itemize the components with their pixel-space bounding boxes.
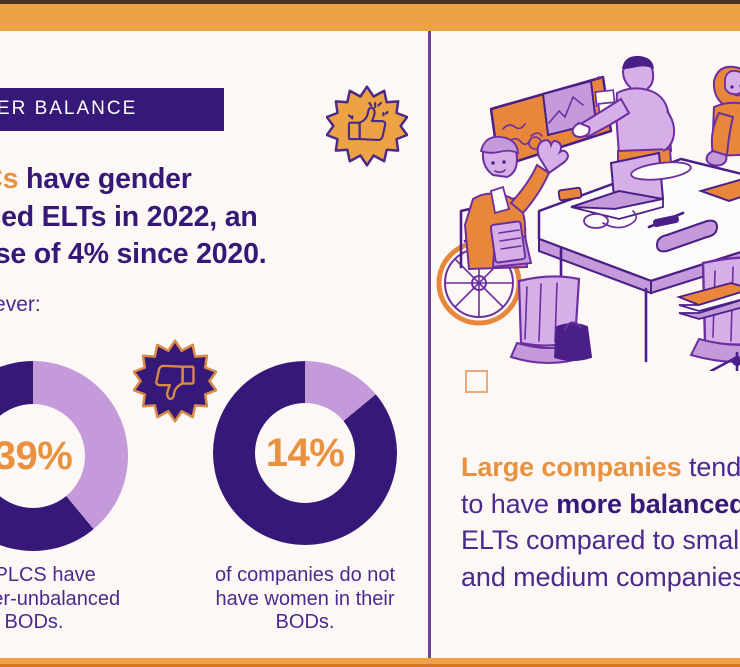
right-text-part1: tend	[689, 452, 740, 482]
however-label: However:	[0, 293, 41, 317]
headline-line2: balanced ELTs in 2022, an	[0, 201, 258, 233]
donut-value-a: 39%	[0, 434, 72, 479]
donut-chart-no-women-bods: 14%	[213, 361, 397, 545]
orange-square-decoration	[465, 370, 488, 393]
left-panel: GENDER BALANCE of PLCs have gender balan…	[0, 31, 428, 658]
right-text-line2-pre: to have	[461, 489, 556, 519]
donut-caption-b-line2: have women in their	[216, 588, 395, 610]
top-orange-bar	[0, 0, 740, 31]
thumbs-down-starburst-icon	[133, 339, 217, 423]
section-badge-label: GENDER BALANCE	[0, 98, 210, 120]
page-headline: of PLCs have gender balanced ELTs in 202…	[0, 161, 432, 274]
donut-ring-b: 14%	[213, 361, 397, 545]
donut-ring-a: 39%	[0, 361, 128, 551]
donut-hole-a: 39%	[0, 404, 85, 508]
right-text-line3: ELTs compared to small	[461, 525, 740, 555]
headline-line3: increase of 4% since 2020.	[0, 238, 266, 270]
person-with-hijab	[707, 67, 740, 166]
donut-caption-a-line1: of PLCS have	[0, 564, 96, 586]
section-badge: GENDER BALANCE	[0, 88, 224, 131]
headline-line1-rest: have gender	[18, 163, 191, 195]
bottom-orange-bar	[0, 658, 740, 667]
donut-chart-plcs-unbalanced: 39%	[0, 361, 128, 551]
donut-value-b: 14%	[266, 431, 345, 476]
right-text-line4: and medium companies.	[461, 562, 740, 592]
donut-caption-a-line3: BODs.	[5, 611, 64, 633]
right-text-line2-bold: more balanced	[556, 489, 740, 519]
donut-caption-b-line1: of companies do not	[215, 564, 395, 586]
laptop	[571, 153, 663, 219]
donut-caption-a: of PLCS have gender-unbalanced BODs.	[0, 564, 164, 635]
donut-caption-b-line3: BODs.	[276, 611, 335, 633]
thumbs-up-starburst-icon	[326, 85, 408, 167]
right-panel-text: Large companies tend to have more balanc…	[461, 449, 740, 596]
office-meeting-illustration: .lp { fill:#d6aee8; } .lp2 { fill:#c49ad…	[431, 31, 740, 371]
donut-caption-b: of companies do not have women in their …	[196, 564, 414, 635]
right-panel: .lp { fill:#d6aee8; } .lp2 { fill:#c49ad…	[431, 31, 740, 658]
infographic-canvas: GENDER BALANCE of PLCs have gender balan…	[0, 0, 740, 667]
donut-caption-a-line2: gender-unbalanced	[0, 588, 120, 610]
bag	[555, 322, 591, 360]
donut-hole-b: 14%	[255, 403, 355, 503]
headline-highlight: of PLCs	[0, 163, 18, 195]
right-text-highlight: Large companies	[461, 452, 689, 482]
